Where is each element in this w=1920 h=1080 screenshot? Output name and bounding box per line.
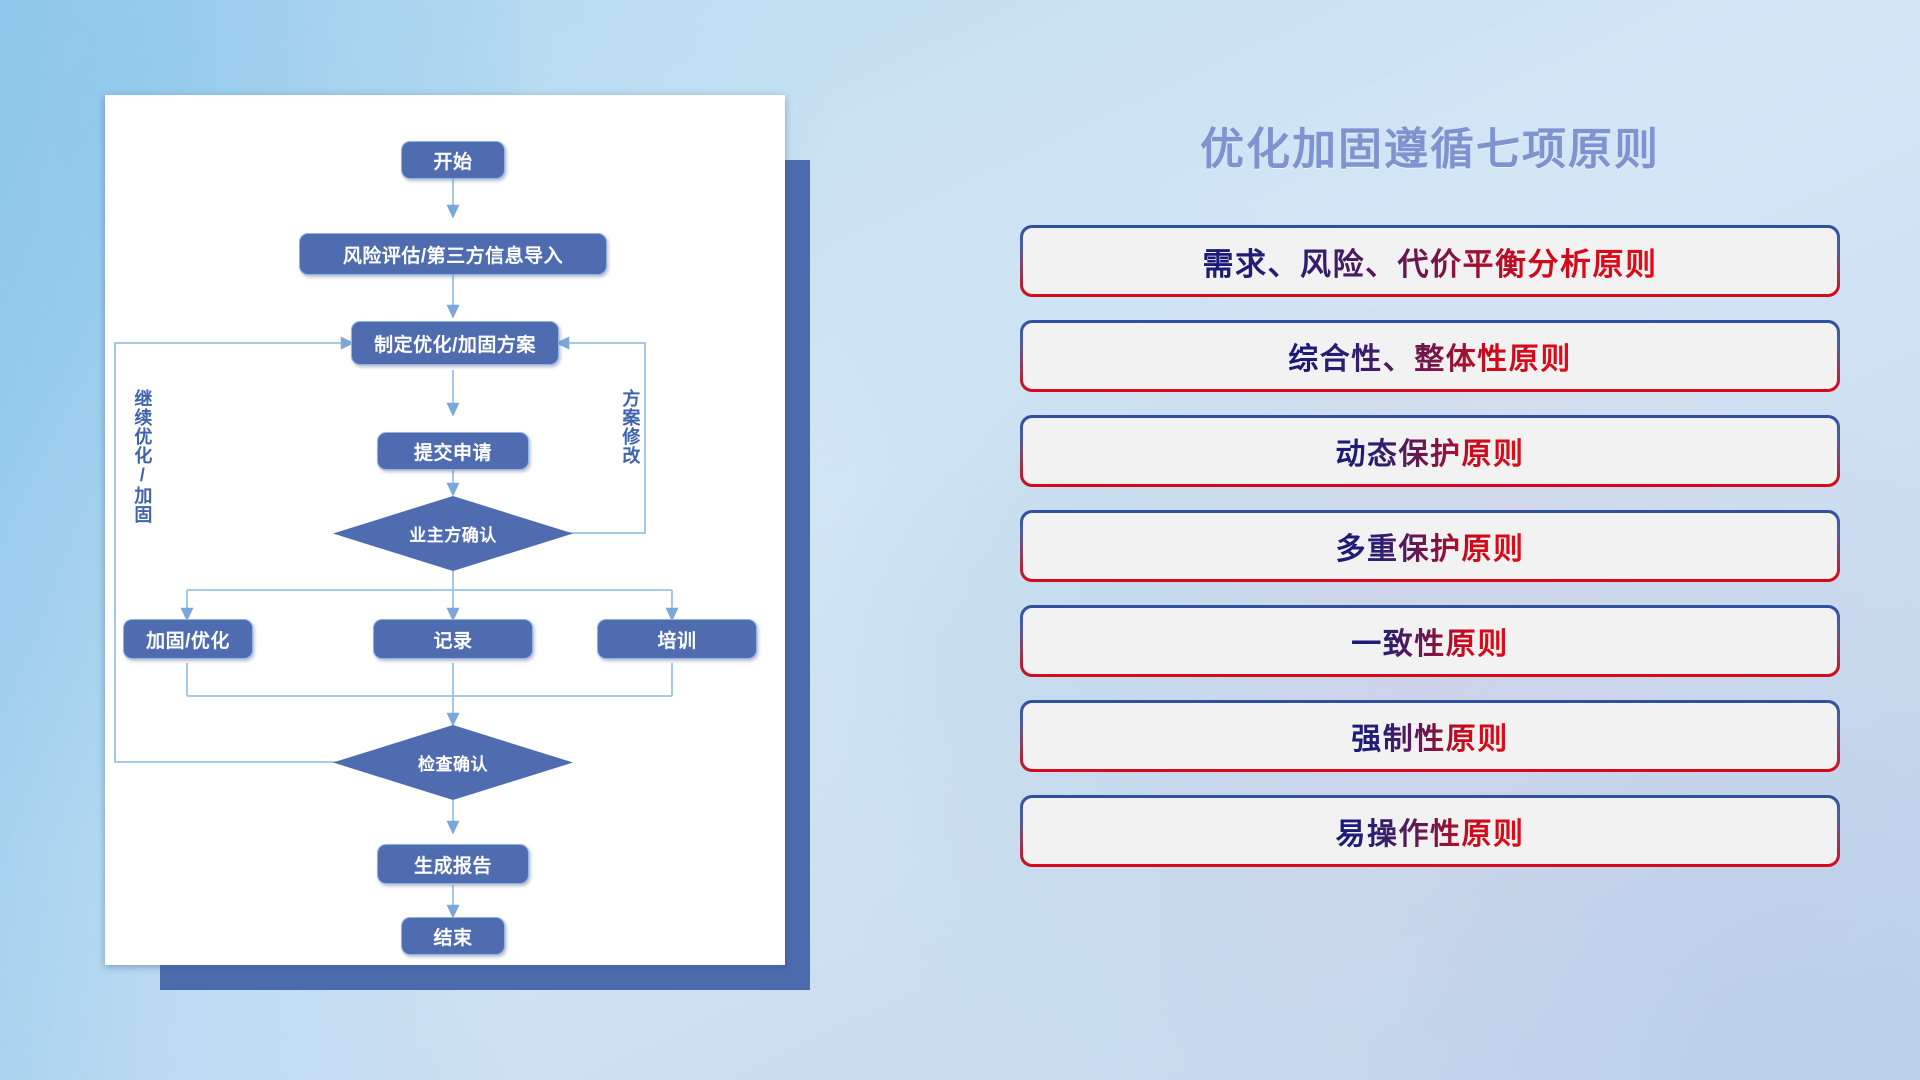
principle-card[interactable]: 多重保护原则 bbox=[1020, 510, 1840, 582]
flow-node-label: 生成报告 bbox=[414, 851, 492, 878]
principle-card[interactable]: 一致性原则 bbox=[1020, 605, 1840, 677]
flow-node-start[interactable]: 开始 bbox=[401, 141, 505, 179]
principle-label: 一致性原则 bbox=[1351, 619, 1509, 663]
flow-edge-label-left-loop: 继续优化/加固 bbox=[133, 389, 151, 524]
principle-label: 需求、风险、代价平衡分析原则 bbox=[1203, 239, 1658, 284]
principle-card[interactable]: 综合性、整体性原则 bbox=[1020, 320, 1840, 392]
flow-node-harden[interactable]: 加固/优化 bbox=[123, 619, 253, 659]
flow-node-label: 记录 bbox=[433, 626, 472, 653]
flow-node-label: 结束 bbox=[433, 923, 472, 950]
flow-node-approve[interactable]: 业主方确认 bbox=[333, 496, 573, 571]
flow-node-report[interactable]: 生成报告 bbox=[377, 844, 529, 884]
slide-canvas: 开始 风险评估/第三方信息导入 制定优化/加固方案 提交申请 业主方确认 加固/… bbox=[0, 0, 1920, 1080]
flow-node-label: 检查确认 bbox=[418, 750, 488, 775]
flow-node-submit[interactable]: 提交申请 bbox=[377, 432, 529, 470]
principle-label: 强制性原则 bbox=[1351, 714, 1509, 758]
principle-label: 动态保护原则 bbox=[1336, 429, 1525, 473]
principle-label: 易操作性原则 bbox=[1336, 809, 1525, 853]
flow-node-label: 风险评估/第三方信息导入 bbox=[343, 241, 563, 268]
principle-card[interactable]: 动态保护原则 bbox=[1020, 415, 1840, 487]
flow-node-end[interactable]: 结束 bbox=[401, 917, 505, 955]
flow-node-label: 业主方确认 bbox=[409, 521, 497, 546]
flow-node-label: 培训 bbox=[657, 626, 696, 653]
flow-node-label: 加固/优化 bbox=[146, 626, 230, 653]
flow-node-plan[interactable]: 制定优化/加固方案 bbox=[351, 321, 559, 365]
flow-node-train[interactable]: 培训 bbox=[597, 619, 757, 659]
flow-node-assess[interactable]: 风险评估/第三方信息导入 bbox=[299, 233, 607, 275]
principle-card[interactable]: 强制性原则 bbox=[1020, 700, 1840, 772]
flow-node-label: 开始 bbox=[433, 147, 472, 174]
flow-node-check[interactable]: 检查确认 bbox=[333, 725, 573, 800]
principles-panel: 优化加固遵循七项原则 需求、风险、代价平衡分析原则 综合性、整体性原则 动态保护… bbox=[1020, 95, 1840, 1025]
flow-edge-label-right-loop: 方案修改 bbox=[621, 389, 639, 465]
flow-node-record[interactable]: 记录 bbox=[373, 619, 533, 659]
flow-node-label: 提交申请 bbox=[414, 438, 492, 465]
panel-title: 优化加固遵循七项原则 bbox=[1020, 113, 1840, 177]
principles-list: 需求、风险、代价平衡分析原则 综合性、整体性原则 动态保护原则 多重保护原则 一… bbox=[1020, 225, 1840, 867]
principle-label: 综合性、整体性原则 bbox=[1288, 334, 1572, 378]
flow-node-label: 制定优化/加固方案 bbox=[374, 330, 536, 357]
principle-card[interactable]: 需求、风险、代价平衡分析原则 bbox=[1020, 225, 1840, 297]
principle-card[interactable]: 易操作性原则 bbox=[1020, 795, 1840, 867]
principle-label: 多重保护原则 bbox=[1336, 524, 1525, 568]
flowchart-card: 开始 风险评估/第三方信息导入 制定优化/加固方案 提交申请 业主方确认 加固/… bbox=[105, 95, 785, 965]
